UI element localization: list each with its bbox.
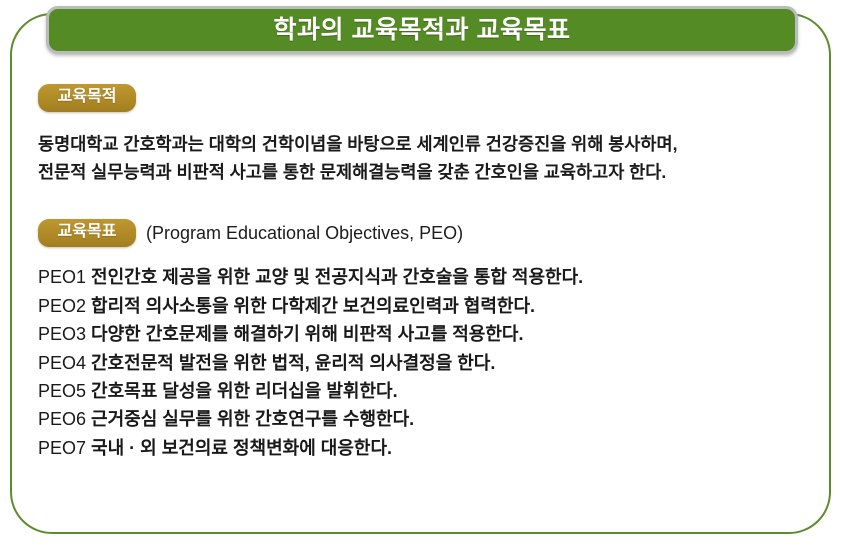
purpose-line: 전문적 실무능력과 비판적 사고를 통한 문제해결능력을 갖춘 간호인을 교육하… xyxy=(38,158,808,186)
peo-list: PEO1 전인간호 제공을 위한 교양 및 전공지식과 간호술을 통합 적용한다… xyxy=(38,263,808,462)
page-title: 학과의 교육목적과 교육목표 xyxy=(274,18,571,43)
peo-code: PEO6 xyxy=(38,409,86,429)
peo-list-item: PEO5 간호목표 달성을 위한 리더십을 발휘한다. xyxy=(38,377,808,405)
peo-text: 국내 · 외 보건의료 정책변화에 대응한다. xyxy=(91,438,392,458)
peo-code: PEO5 xyxy=(38,381,86,401)
peo-list-item: PEO6 근거중심 실무를 위한 간호연구를 수행한다. xyxy=(38,405,808,433)
peo-list-item: PEO1 전인간호 제공을 위한 교양 및 전공지식과 간호술을 통합 적용한다… xyxy=(38,263,808,291)
peo-list-item: PEO7 국내 · 외 보건의료 정책변화에 대응한다. xyxy=(38,434,808,462)
peo-text: 전인간호 제공을 위한 교양 및 전공지식과 간호술을 통합 적용한다. xyxy=(91,267,583,287)
peo-code: PEO3 xyxy=(38,324,86,344)
purpose-body: 동명대학교 간호학과는 대학의 건학이념을 바탕으로 세계인류 건강증진을 위해… xyxy=(38,130,808,187)
objectives-badge-row: 교육목표 (Program Educational Objectives, PE… xyxy=(38,219,808,247)
peo-list-item: PEO4 간호전문적 발전을 위한 법적, 윤리적 의사결정을 한다. xyxy=(38,349,808,377)
peo-code: PEO4 xyxy=(38,353,86,373)
objectives-caption: (Program Educational Objectives, PEO) xyxy=(146,224,463,242)
peo-list-item: PEO2 합리적 의사소통을 위한 다학제간 보건의료인력과 협력한다. xyxy=(38,292,808,320)
purpose-line: 동명대학교 간호학과는 대학의 건학이념을 바탕으로 세계인류 건강증진을 위해… xyxy=(38,130,808,158)
content-area: 교육목적 동명대학교 간호학과는 대학의 건학이념을 바탕으로 세계인류 건강증… xyxy=(38,80,808,462)
purpose-badge-row: 교육목적 xyxy=(38,84,808,112)
peo-text: 근거중심 실무를 위한 간호연구를 수행한다. xyxy=(91,409,414,429)
peo-text: 간호전문적 발전을 위한 법적, 윤리적 의사결정을 한다. xyxy=(91,353,495,373)
peo-code: PEO7 xyxy=(38,438,86,458)
peo-text: 합리적 의사소통을 위한 다학제간 보건의료인력과 협력한다. xyxy=(91,296,535,316)
purpose-section: 교육목적 동명대학교 간호학과는 대학의 건학이념을 바탕으로 세계인류 건강증… xyxy=(38,84,808,186)
peo-text: 다양한 간호문제를 해결하기 위해 비판적 사고를 적용한다. xyxy=(91,324,523,344)
peo-text: 간호목표 달성을 위한 리더십을 발휘한다. xyxy=(91,381,398,401)
peo-code: PEO2 xyxy=(38,296,86,316)
page-root: 학과의 교육목적과 교육목표 교육목적 동명대학교 간호학과는 대학의 건학이념… xyxy=(0,0,843,547)
objectives-badge: 교육목표 xyxy=(38,219,136,247)
peo-code: PEO1 xyxy=(38,267,86,287)
purpose-badge: 교육목적 xyxy=(38,84,136,112)
page-title-banner: 학과의 교육목적과 교육목표 xyxy=(46,6,798,54)
peo-list-item: PEO3 다양한 간호문제를 해결하기 위해 비판적 사고를 적용한다. xyxy=(38,320,808,348)
objectives-section: 교육목표 (Program Educational Objectives, PE… xyxy=(38,219,808,462)
